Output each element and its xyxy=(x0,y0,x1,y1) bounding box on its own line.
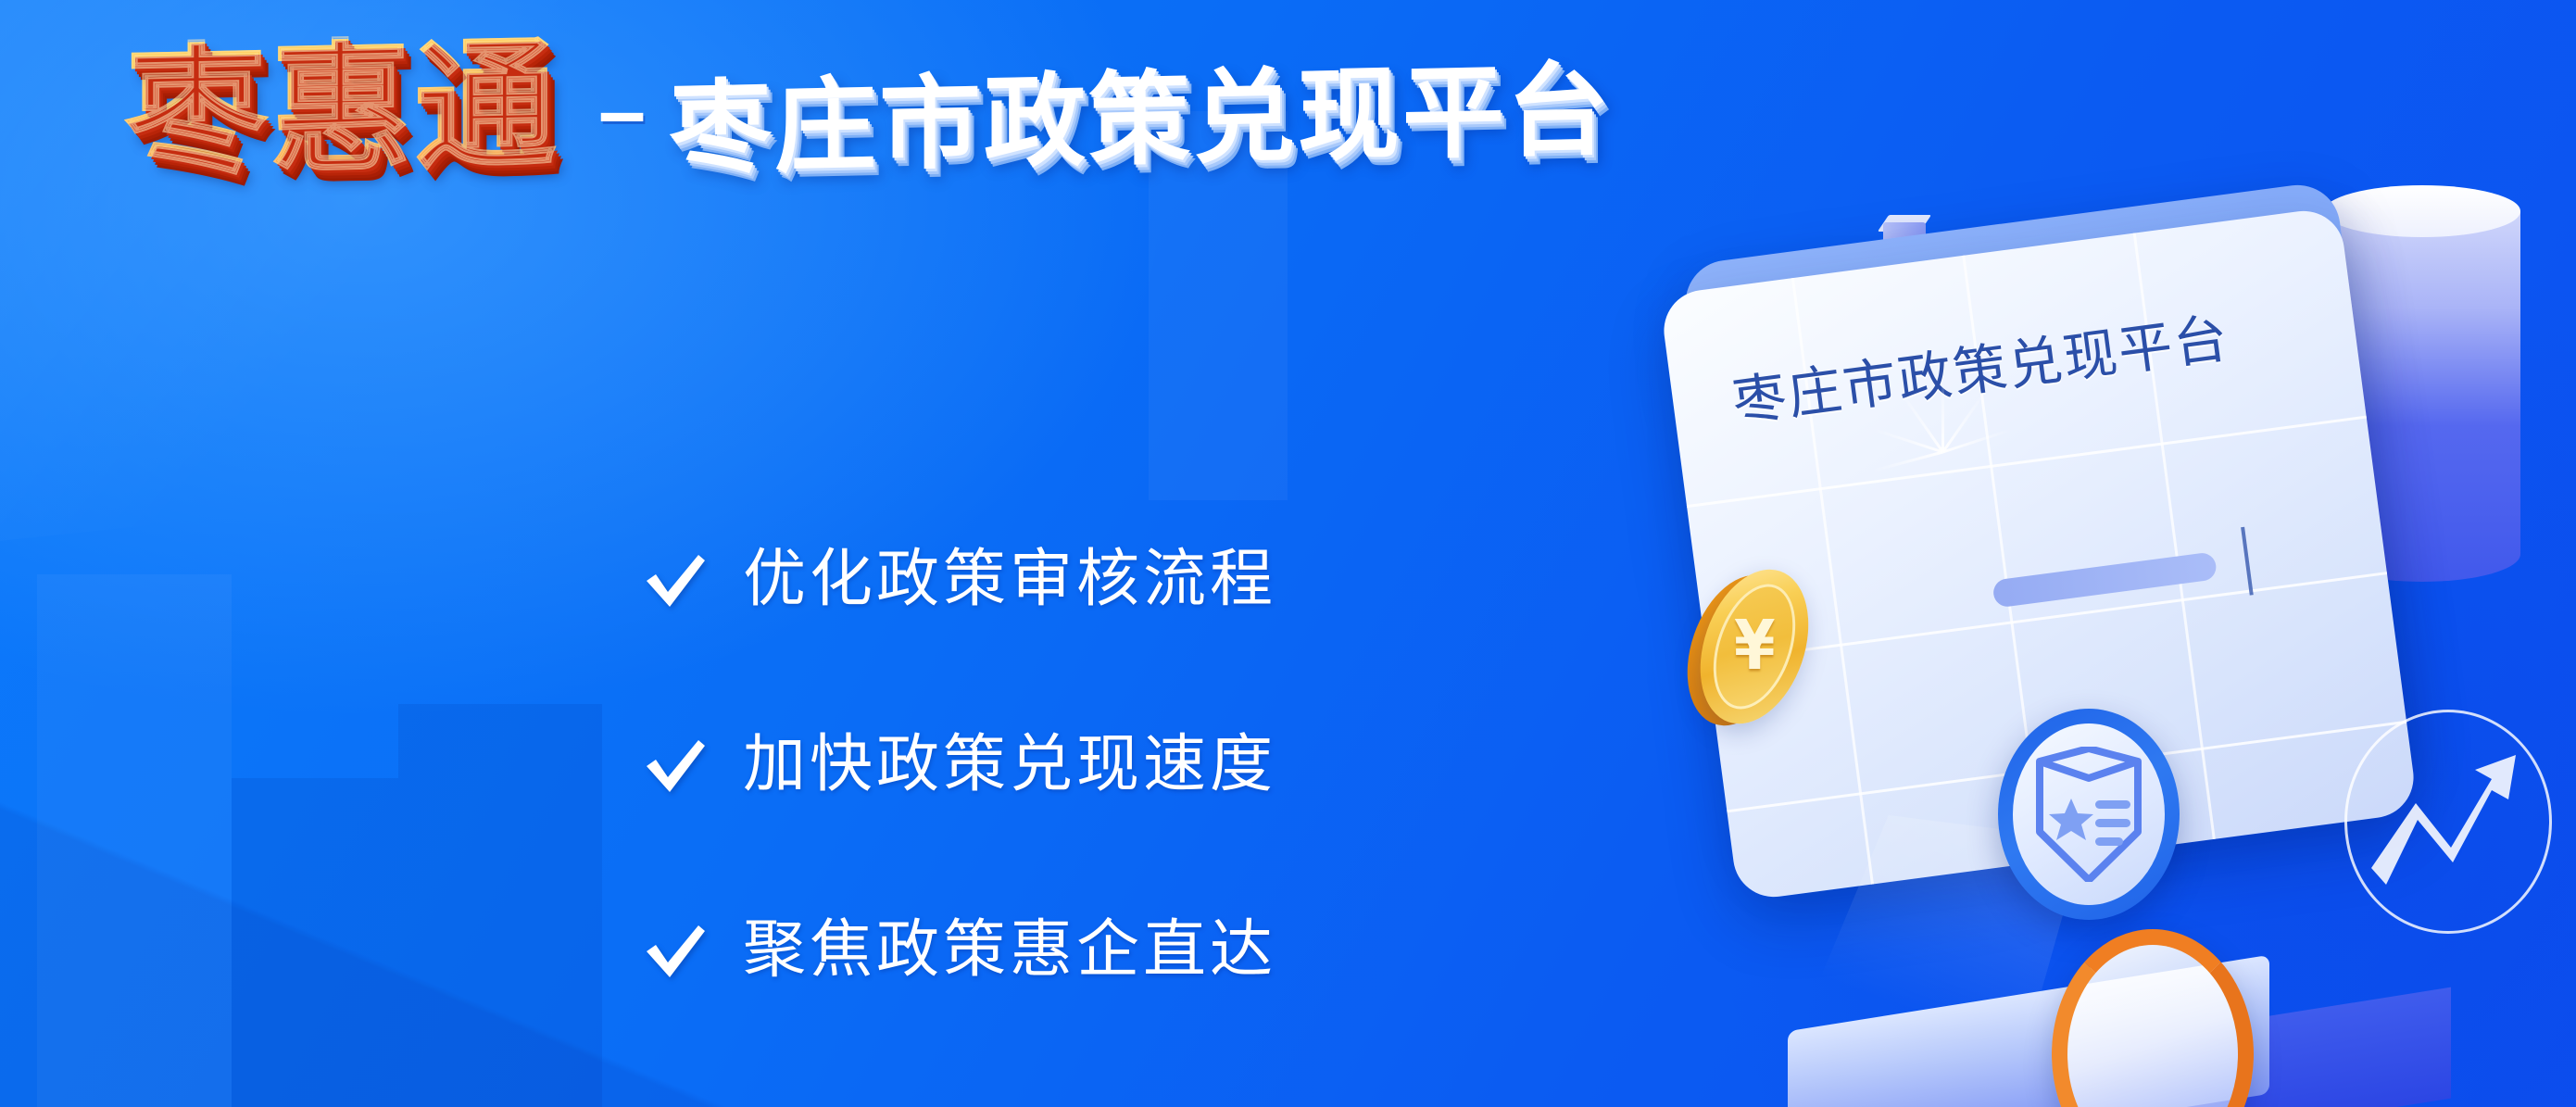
check-icon xyxy=(639,544,711,616)
title-separator: – xyxy=(598,69,646,154)
feature-list: 优化政策审核流程 加快政策兑现速度 聚焦政策惠企直达 xyxy=(639,519,1276,1012)
banner-subtitle: 枣庄市政策兑现平台 xyxy=(670,58,1612,202)
policy-platform-banner: 枣惠通 – 枣庄市政策兑现平台 优化政策审核流程 加快政策兑现速度 xyxy=(0,0,2576,1107)
background-building-2 xyxy=(232,778,398,1107)
feature-item: 聚焦政策惠企直达 xyxy=(639,889,1276,1012)
trending-up-arrow-icon xyxy=(2344,710,2552,934)
feature-label: 加快政策兑现速度 xyxy=(743,734,1276,797)
card-tick-mark xyxy=(2241,527,2254,596)
background-building-3 xyxy=(398,704,602,1107)
check-icon xyxy=(639,729,711,801)
background-building-1 xyxy=(37,574,232,1107)
banner-illustration: 枣庄市政策兑现平台 xyxy=(1557,0,2576,1107)
brand-name: 枣惠通 xyxy=(119,34,567,197)
coin-symbol: ¥ xyxy=(1734,612,1776,681)
feature-label: 优化政策审核流程 xyxy=(743,548,1276,611)
feature-item: 优化政策审核流程 xyxy=(639,519,1276,641)
shield-star-badge-icon xyxy=(2034,747,2143,882)
check-icon xyxy=(639,914,711,987)
banner-title-row: 枣惠通 – 枣庄市政策兑现平台 xyxy=(119,39,1612,193)
feature-item: 加快政策兑现速度 xyxy=(639,704,1276,826)
card-title: 枣庄市政策兑现平台 xyxy=(1729,298,2324,429)
sparkle-icon xyxy=(1869,380,2017,528)
feature-label: 聚焦政策惠企直达 xyxy=(743,919,1276,982)
bar-cylinder-indigo-top xyxy=(2324,185,2520,237)
